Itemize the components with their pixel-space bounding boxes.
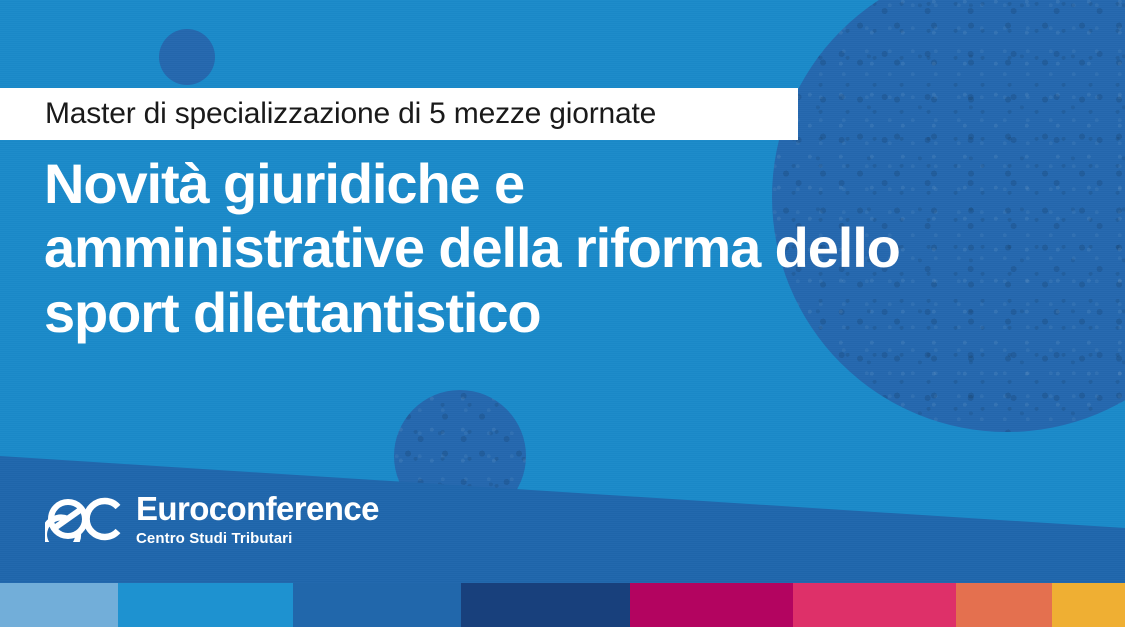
color-swatch-navy-blue: [461, 583, 630, 627]
headline-line-2: amministrative della riforma dello: [44, 216, 1084, 280]
color-swatch-yellow: [1052, 583, 1125, 627]
logo-title: Euroconference: [136, 492, 379, 525]
page-title: Novità giuridiche e amministrative della…: [44, 152, 1084, 345]
euroconference-logo: Euroconference Centro Studi Tributari: [45, 492, 379, 546]
color-swatch-light-blue: [0, 583, 118, 627]
headline-line-1: Novità giuridiche e: [44, 152, 1084, 216]
color-swatch-magenta: [630, 583, 793, 627]
headline-line-3: sport dilettantistico: [44, 281, 1084, 345]
color-swatch-pink: [793, 583, 956, 627]
event-promo-banner: Master di specializzazione di 5 mezze gi…: [0, 0, 1125, 627]
color-swatch-medium-blue: [293, 583, 462, 627]
logo-wordmark: Euroconference Centro Studi Tributari: [136, 492, 379, 546]
logo-subtitle: Centro Studi Tributari: [136, 531, 379, 546]
brand-color-strip: [0, 583, 1125, 627]
kicker-banner: Master di specializzazione di 5 mezze gi…: [0, 88, 798, 140]
color-swatch-orange: [956, 583, 1052, 627]
banner-content: Master di specializzazione di 5 mezze gi…: [0, 0, 1125, 627]
ec-monogram-icon: [45, 496, 123, 542]
kicker-text: Master di specializzazione di 5 mezze gi…: [0, 99, 656, 129]
color-swatch-bright-blue: [118, 583, 292, 627]
